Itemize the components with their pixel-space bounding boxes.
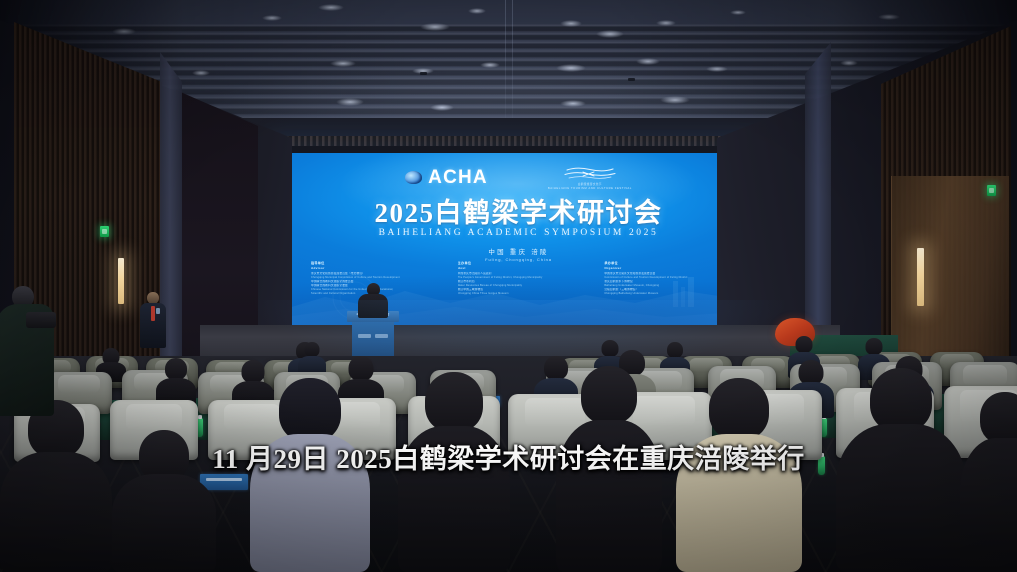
person-body bbox=[960, 438, 1017, 572]
person-head bbox=[581, 366, 637, 424]
audience-member bbox=[556, 366, 662, 572]
person-body bbox=[112, 474, 216, 572]
wall-sconce-left bbox=[118, 258, 124, 304]
credit-line: Chongqing Baiheliang Underwater Museum bbox=[604, 292, 730, 296]
wall-sconce-right bbox=[917, 248, 924, 306]
credit-heading-cn: 主办单位 bbox=[458, 261, 584, 265]
person-body bbox=[250, 434, 370, 572]
exit-sign-icon bbox=[987, 185, 996, 196]
wooden-door-right[interactable] bbox=[891, 176, 1009, 356]
person-head bbox=[279, 378, 341, 442]
screen-title-block: 2025白鹤梁学术研讨会 BAIHELIANG ACADEMIC SYMPOSI… bbox=[285, 199, 752, 262]
podium-logo-strip bbox=[355, 334, 391, 338]
credit-column: 主办单位 Host 中国重庆市涪陵区人民政府 The People's Gove… bbox=[458, 261, 584, 295]
person-body bbox=[0, 452, 112, 572]
festival-logo-en: BAIHELIANG TOURISM AND CULTURE FESTIVAL bbox=[548, 187, 632, 190]
person-body bbox=[398, 426, 510, 572]
acha-logo-text: ACHA bbox=[428, 168, 488, 187]
person-body bbox=[836, 424, 966, 572]
audience-member bbox=[960, 392, 1017, 572]
person-head bbox=[796, 336, 813, 353]
person-head bbox=[667, 342, 683, 358]
credit-heading-en: Organizer bbox=[604, 266, 730, 270]
credit-heading-cn: 承办单位 bbox=[604, 261, 730, 265]
speaker-at-podium bbox=[358, 283, 388, 317]
audience-member bbox=[0, 400, 112, 572]
person-head bbox=[165, 358, 187, 380]
credit-heading-en: Host bbox=[458, 266, 584, 270]
person-head bbox=[709, 378, 769, 440]
staff-badge bbox=[156, 308, 160, 314]
video-frame: ACHA 白鹤梁旅游文化节 BAIHELIANG TOURISM AND CUL… bbox=[0, 0, 1017, 572]
standing-staff-member bbox=[140, 292, 166, 348]
credit-column: 承办单位 Organizer 中国重庆市涪陵区文化和旅游发展委员会 Commis… bbox=[604, 261, 730, 295]
baiheliang-festival-logo: 白鹤梁旅游文化节 BAIHELIANG TOURISM AND CULTURE … bbox=[548, 165, 632, 191]
person-body bbox=[556, 420, 662, 572]
credit-line: Chongqing China Three Gorges Museum bbox=[458, 292, 584, 296]
video-camera-icon bbox=[26, 312, 56, 328]
audience-member bbox=[398, 372, 510, 572]
screen-logo-row: ACHA 白鹤梁旅游文化节 BAIHELIANG TOURISM AND CUL… bbox=[285, 165, 752, 191]
person-head bbox=[305, 342, 320, 357]
audience-member bbox=[836, 368, 966, 572]
symposium-location-cn: 中国 重庆 涪陵 bbox=[285, 249, 752, 257]
crane-wave-icon bbox=[564, 165, 616, 182]
acha-logo: ACHA bbox=[405, 168, 488, 187]
staff-tie bbox=[151, 306, 155, 321]
podium-logo bbox=[358, 334, 371, 338]
person-head bbox=[870, 368, 932, 432]
speaker-body bbox=[358, 294, 388, 318]
acha-globe-icon bbox=[405, 171, 422, 184]
symposium-title-cn: 2025白鹤梁学术研讨会 bbox=[285, 199, 752, 227]
audience-member bbox=[676, 378, 802, 572]
credit-heading-en: Advisor bbox=[311, 266, 437, 270]
person-body bbox=[676, 434, 802, 572]
podium-logo bbox=[375, 334, 388, 338]
audience-member bbox=[112, 430, 216, 572]
person-head bbox=[425, 372, 483, 432]
audience-member bbox=[250, 378, 370, 572]
led-presentation-screen: ACHA 白鹤梁旅游文化节 BAIHELIANG TOURISM AND CUL… bbox=[285, 153, 752, 325]
person-head bbox=[866, 338, 883, 355]
camera-operator bbox=[0, 286, 58, 416]
exit-sign-icon bbox=[100, 226, 109, 237]
person-head bbox=[980, 392, 1017, 444]
credit-heading-cn: 指导单位 bbox=[311, 261, 437, 265]
symposium-title-en: BAIHELIANG ACADEMIC SYMPOSIUM 2025 bbox=[285, 229, 752, 239]
